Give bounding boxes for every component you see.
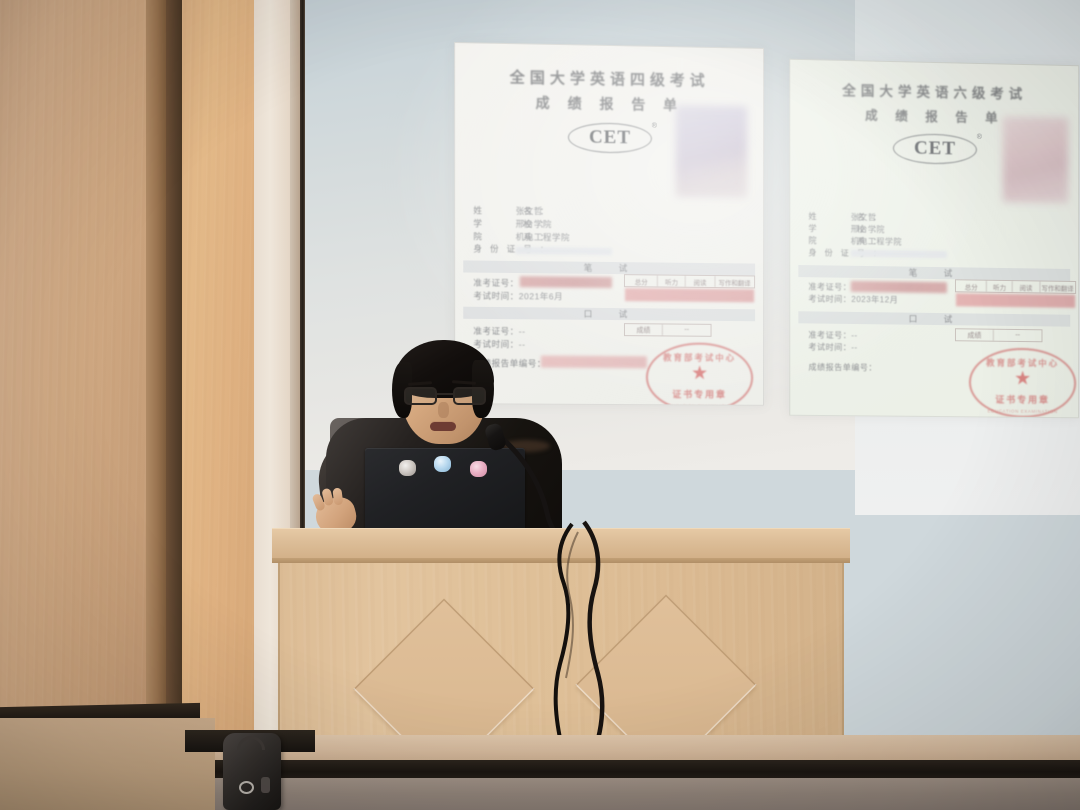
- bag-side-tab: [261, 777, 270, 793]
- cet4-official-seal: 教育部考试中心 ★ 证书专用章 EDUCATION EXAMINATION: [646, 342, 753, 406]
- cet6-written-ticket-label: 准考证号：: [808, 282, 851, 292]
- cet4-written-date-value: 2021年6月: [519, 291, 563, 301]
- cet4-school-label: 学 校：: [473, 217, 515, 230]
- photograph-scene: 全国大学英语四级考试 成 绩 报 告 单 CET ® 姓 名：张文哲 学 校：邢…: [0, 0, 1080, 810]
- cet6-oral-row: 考试时间：--: [808, 342, 857, 355]
- cet6-th-reading: 阅读: [1013, 281, 1040, 292]
- cet6-id-label: 身份证号：: [808, 247, 850, 260]
- cet4-oral-section-heading: 口 试: [455, 307, 763, 322]
- cet6-th-listening: 听力: [987, 281, 1012, 292]
- left-floor-area: [0, 718, 215, 810]
- cet6-written-section-heading: 笔 试: [790, 265, 1078, 281]
- cet6-school-value: 邢台学院: [851, 225, 885, 235]
- cet4-written-row: 考试时间：2021年6月: [473, 289, 563, 303]
- cet6-school-label: 学 校：: [808, 223, 850, 236]
- cet4-written-score-redaction: [625, 288, 754, 302]
- cet4-oral-th: 成绩: [625, 324, 663, 335]
- cet6-seal-bottom-text: 证书专用章: [969, 392, 1076, 406]
- cet6-written-row: 考试时间：2023年12月: [808, 293, 898, 306]
- cet4-th-reading: 阅读: [686, 276, 715, 287]
- cet4-logo: CET ®: [568, 122, 652, 153]
- cet6-oral-th: 成绩: [956, 329, 994, 340]
- cet6-official-seal: 教育部考试中心 ★ 证书专用章 EDUCATION EXAMINATION: [969, 347, 1076, 418]
- cet4-written-score-table-header: 总分 听力 阅读 写作和翻译: [624, 274, 755, 288]
- cet4-written-ticket-label: 准考证号：: [473, 278, 518, 288]
- presenter-mouth: [430, 422, 456, 431]
- cet6-oral-section-heading: 口 试: [790, 311, 1078, 327]
- cet4-written-date-label: 考试时间：: [473, 290, 518, 300]
- cet6-logo: CET ®: [893, 133, 977, 165]
- cet4-redacted-photo: [676, 105, 747, 198]
- cet6-oral-row: 准考证号：--: [808, 329, 857, 342]
- star-icon: ★: [1014, 369, 1031, 388]
- cet4-th-total: 总分: [625, 275, 658, 286]
- cet6-logo-text: CET: [893, 133, 977, 165]
- cet6-redacted-photo: [1003, 116, 1068, 203]
- cet4-oral-ticket-label: 准考证号：: [473, 326, 518, 336]
- cet6-field-row: 身份证号：: [808, 247, 947, 261]
- cet4-oral-value: --: [663, 324, 711, 335]
- cet6-written-date-label: 考试时间：: [808, 294, 851, 304]
- bag-d-ring-icon: [239, 781, 254, 794]
- cet4-school-value: 邢台学院: [516, 219, 552, 229]
- wall-panel-2: [146, 0, 166, 760]
- cet6-oral-ticket-value: --: [851, 331, 857, 340]
- cet6-oral-ticket-label: 准考证号：: [808, 330, 851, 340]
- cet6-name-value: 张文哲: [851, 213, 877, 222]
- cet6-report-no-row: 成绩报告单编号：: [808, 362, 876, 375]
- cet4-name-label: 姓 名：: [473, 204, 515, 217]
- cet4-dept-label: 院 系：: [473, 230, 515, 243]
- cet4-fields: 姓 名：张文哲 学 校：邢台学院 院 系：机电工程学院 身份证号：: [473, 204, 612, 257]
- cet4-id-redaction: [516, 246, 612, 254]
- cet6-title-line1: 全国大学英语六级考试: [790, 78, 1078, 104]
- cet4-seal-bottom-text: 证书专用章: [646, 387, 753, 401]
- cet4-th-listening: 听力: [658, 275, 685, 286]
- cet6-dept-label: 院 系：: [808, 235, 850, 248]
- black-shoulder-bag: [223, 733, 281, 810]
- cet6-oral-rows: 准考证号：-- 考试时间：--: [808, 329, 857, 354]
- cet4-title-line1: 全国大学英语四级考试: [455, 65, 763, 92]
- cet4-name-value: 张文哲: [516, 206, 543, 216]
- cet4-logo-text: CET: [568, 122, 652, 153]
- star-icon: ★: [691, 364, 708, 383]
- cet6-id-redaction: [851, 250, 947, 258]
- cet4-written-ticket-redaction: [520, 276, 612, 288]
- presenter-nose: [438, 402, 449, 418]
- cet6-oral-score-table: 成绩 --: [955, 328, 1043, 342]
- cet4-th-writing: 写作和翻译: [715, 276, 754, 287]
- cet6-th-writing: 写作和翻译: [1040, 281, 1075, 292]
- cet4-oral-row: 准考证号：--: [473, 325, 525, 338]
- wall-panel-1: [0, 0, 146, 760]
- cet6-fields: 姓 名：张文哲 学 校：邢台学院 院 系：机电工程学院 身份证号：: [808, 211, 947, 261]
- cet4-oral-score-table: 成绩 --: [624, 323, 712, 337]
- cet6-written-ticket-redaction: [851, 281, 947, 293]
- light-blue-sticker-icon: [434, 456, 451, 472]
- cet6-oral-date-value: --: [851, 343, 857, 352]
- cet6-seal-tiny-text: EDUCATION EXAMINATION: [969, 408, 1076, 414]
- cet6-written-score-redaction: [956, 293, 1075, 308]
- cet6-dept-value: 机电工程学院: [851, 237, 902, 247]
- cet6-oral-date-label: 考试时间：: [808, 343, 851, 353]
- wall-panel-4: [182, 0, 254, 760]
- cet4-dept-value: 机电工程学院: [516, 231, 570, 242]
- cet6-report-no-label: 成绩报告单编号：: [808, 363, 876, 373]
- cet6-oral-value: --: [994, 330, 1042, 342]
- cet4-oral-ticket-value: --: [519, 326, 526, 336]
- cet6-registered-mark: ®: [977, 134, 982, 141]
- cet4-registered-mark: ®: [652, 123, 657, 130]
- cet6-th-total: 总分: [956, 280, 987, 291]
- wooden-wall-panels: [0, 0, 306, 760]
- cet6-written-date-value: 2023年12月: [851, 295, 898, 305]
- wall-panel-3-dark: [166, 0, 182, 760]
- cet4-written-section-heading: 笔 试: [455, 260, 763, 275]
- cet6-score-report: 全国大学英语六级考试 成 绩 报 告 单 CET ® 姓 名：张文哲 学 校：邢…: [789, 59, 1079, 419]
- cet6-written-score-table-header: 总分 听力 阅读 写作和翻译: [955, 279, 1076, 294]
- cet4-field-row: 身份证号：: [473, 243, 612, 257]
- cet4-id-label: 身份证号：: [473, 243, 515, 256]
- cet6-name-label: 姓 名：: [808, 211, 850, 224]
- grey-white-sticker-icon: [399, 460, 416, 476]
- bag-handle: [237, 736, 265, 750]
